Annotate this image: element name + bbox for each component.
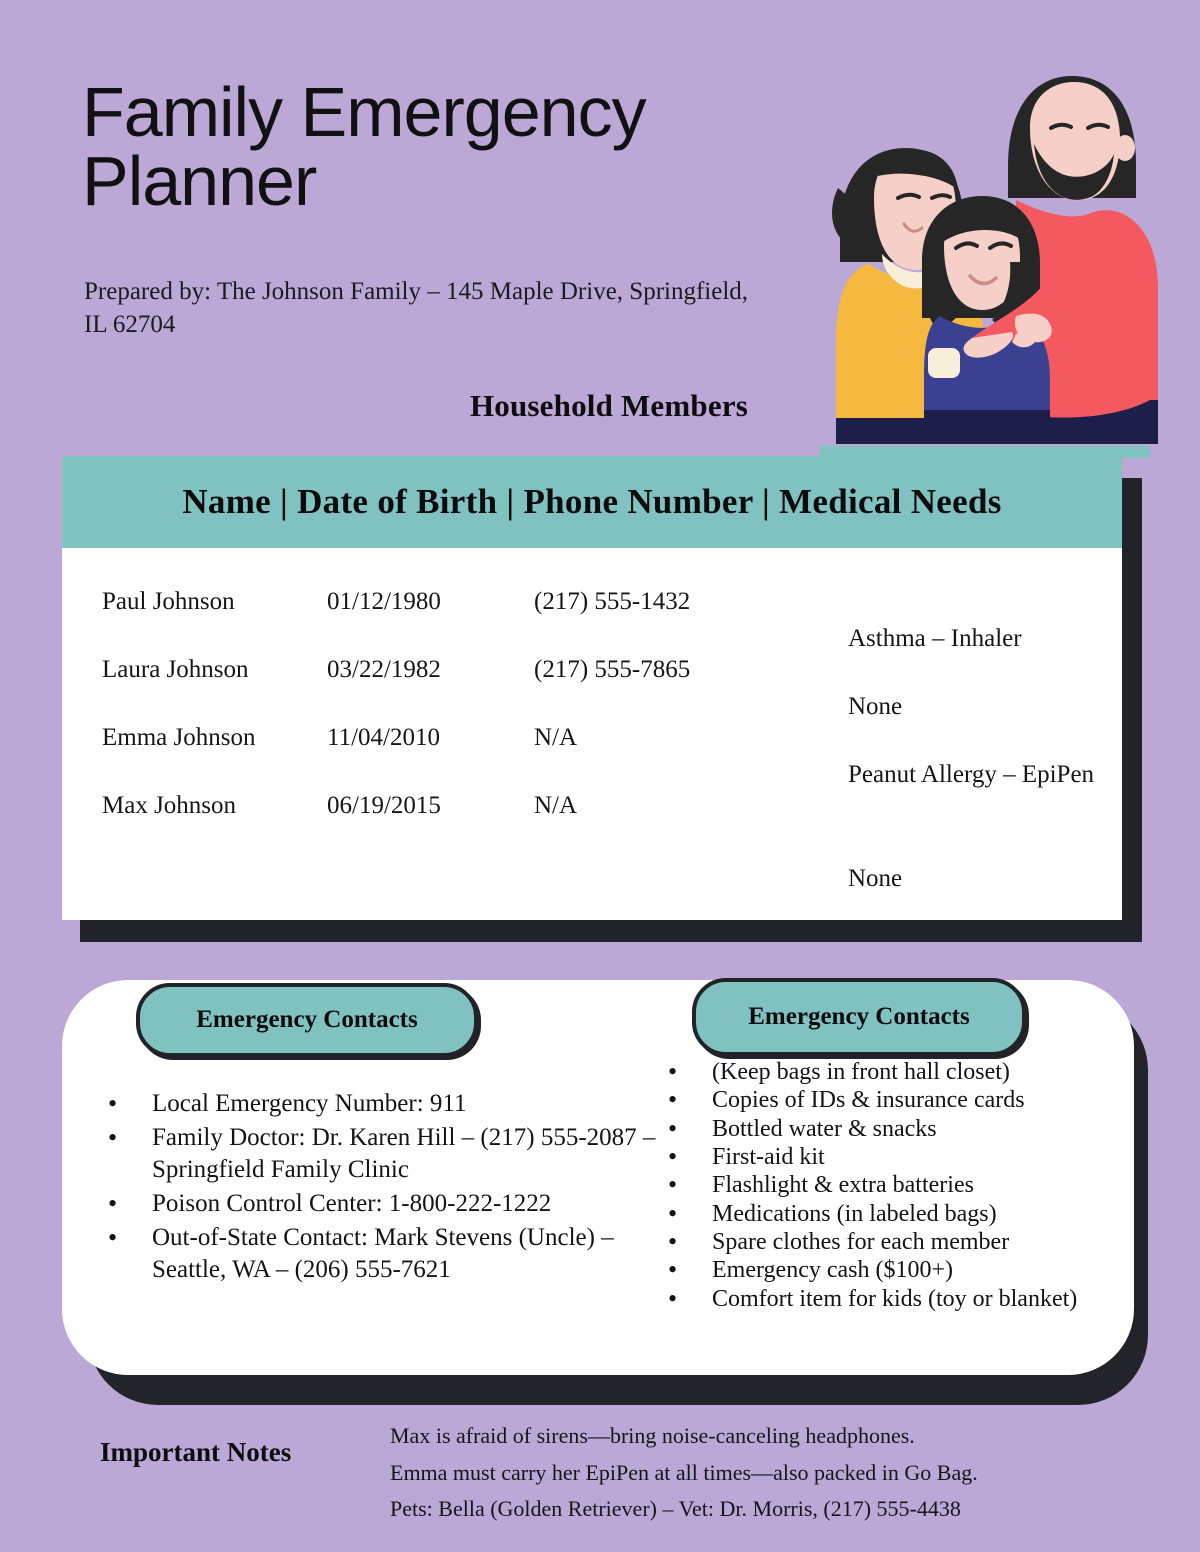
page-title: Family Emergency Planner	[82, 78, 782, 215]
go-bag-checklist-right: (Keep bags in front hall closet) Copies …	[660, 1058, 1130, 1313]
pill-label-right: Emergency Contacts	[748, 1003, 969, 1031]
emergency-contacts-list-left: Local Emergency Number: 911 Family Docto…	[100, 1088, 660, 1288]
table-cell-name: Paul Johnson	[102, 586, 312, 654]
table-cell-dob: 06/19/2015	[327, 790, 507, 858]
list-item: Out-of-State Contact: Mark Stevens (Uncl…	[100, 1222, 660, 1286]
emergency-contacts-pill-left: Emergency Contacts	[136, 983, 478, 1057]
list-item: Comfort item for kids (toy or blanket)	[660, 1285, 1130, 1313]
column-phone-number: (217) 555-1432 (217) 555-7865 N/A N/A	[534, 586, 784, 858]
table-cell-medical: None	[848, 691, 1098, 759]
table-cell-phone: (217) 555-7865	[534, 654, 784, 722]
list-item: Flashlight & extra batteries	[660, 1171, 1130, 1199]
column-medical-needs: Asthma – Inhaler None Peanut Allergy – E…	[848, 623, 1098, 931]
table-cell-phone: N/A	[534, 722, 784, 790]
table-cell-name: Max Johnson	[102, 790, 312, 858]
note-line: Max is afraid of sirens—bring noise-canc…	[390, 1418, 1090, 1455]
table-cell-dob: 03/22/1982	[327, 654, 507, 722]
list-item: Medications (in labeled bags)	[660, 1200, 1130, 1228]
list-item: Bottled water & snacks	[660, 1115, 1130, 1143]
list-item: Family Doctor: Dr. Karen Hill – (217) 55…	[100, 1122, 660, 1186]
column-name: Paul Johnson Laura Johnson Emma Johnson …	[102, 586, 312, 858]
members-table-body: Paul Johnson Laura Johnson Emma Johnson …	[62, 548, 1122, 920]
table-cell-medical: Asthma – Inhaler	[848, 623, 1098, 691]
members-table-header-text: Name | Date of Birth | Phone Number | Me…	[182, 482, 1001, 522]
list-item: (Keep bags in front hall closet)	[660, 1058, 1130, 1086]
column-date-of-birth: 01/12/1980 03/22/1982 11/04/2010 06/19/2…	[327, 586, 507, 858]
members-table-header: Name | Date of Birth | Phone Number | Me…	[62, 456, 1122, 548]
list-item: Copies of IDs & insurance cards	[660, 1086, 1130, 1114]
list-item: Spare clothes for each member	[660, 1228, 1130, 1256]
table-cell-name: Emma Johnson	[102, 722, 312, 790]
members-table-card: Name | Date of Birth | Phone Number | Me…	[62, 456, 1122, 920]
table-cell-phone: (217) 555-1432	[534, 586, 784, 654]
important-notes-label: Important Notes	[100, 1437, 291, 1468]
table-cell-medical: None	[848, 863, 1098, 931]
pill-label-left: Emergency Contacts	[196, 1006, 417, 1034]
list-item: First-aid kit	[660, 1143, 1130, 1171]
table-cell-dob: 01/12/1980	[327, 586, 507, 654]
list-item: Emergency cash ($100+)	[660, 1256, 1130, 1284]
household-members-heading: Household Members	[0, 388, 1200, 424]
emergency-contacts-pill-right: Emergency Contacts	[692, 978, 1026, 1056]
table-cell-name: Laura Johnson	[102, 654, 312, 722]
list-item: Poison Control Center: 1-800-222-1222	[100, 1188, 660, 1220]
list-item: Local Emergency Number: 911	[100, 1088, 660, 1120]
important-notes-body: Max is afraid of sirens—bring noise-canc…	[390, 1418, 1090, 1528]
table-cell-medical: Peanut Allergy – EpiPen	[848, 759, 1098, 863]
poster-page: Family Emergency Planner Prepared by: Th…	[0, 0, 1200, 1552]
table-cell-phone: N/A	[534, 790, 784, 858]
table-cell-dob: 11/04/2010	[327, 722, 507, 790]
prepared-by-text: Prepared by: The Johnson Family – 145 Ma…	[84, 275, 764, 342]
note-line: Pets: Bella (Golden Retriever) – Vet: Dr…	[390, 1491, 1090, 1528]
note-line: Emma must carry her EpiPen at all times—…	[390, 1455, 1090, 1492]
